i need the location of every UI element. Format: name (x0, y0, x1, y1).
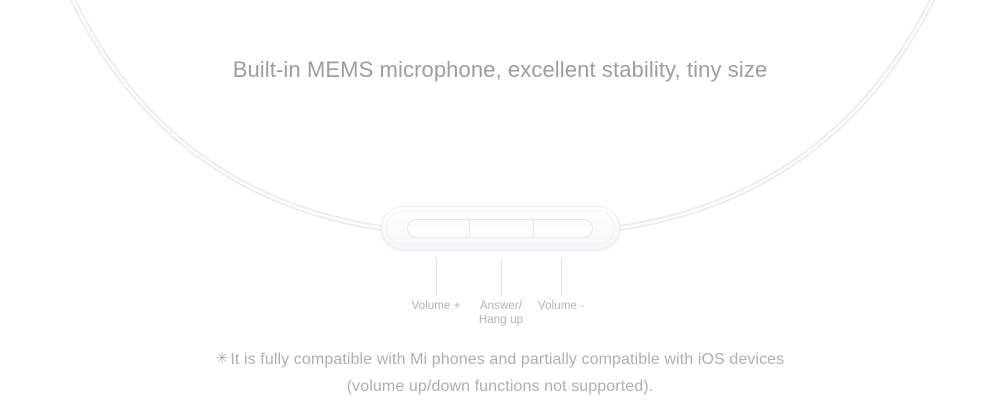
callout-tick-answer-hang (501, 259, 502, 296)
remote-button-strip (407, 219, 593, 238)
page-title: Built-in MEMS microphone, excellent stab… (0, 57, 1000, 83)
callout-tick-volume-up (436, 259, 437, 296)
compatibility-footnote: ✳It is fully compatible with Mi phones a… (0, 345, 1000, 400)
cable-left-highlight (70, 0, 381, 228)
infographic-canvas: Built-in MEMS microphone, excellent stab… (0, 0, 1000, 403)
inline-remote-control (381, 206, 620, 250)
cable-left-outer (70, 0, 381, 228)
asterisk-icon: ✳ (216, 350, 229, 367)
cable-right-highlight (620, 0, 935, 228)
remote-button-volume-up[interactable] (408, 220, 469, 237)
footnote-line-1: It is fully compatible with Mi phones an… (230, 351, 784, 368)
callout-tick-volume-down (561, 259, 562, 296)
remote-button-volume-down[interactable] (533, 220, 592, 237)
callout-label-volume-down: Volume - (521, 299, 601, 313)
remote-button-answer-hang[interactable] (469, 220, 533, 237)
cable-right-outer (620, 0, 935, 228)
footnote-line-2: (volume up/down functions not supported)… (0, 373, 1000, 400)
